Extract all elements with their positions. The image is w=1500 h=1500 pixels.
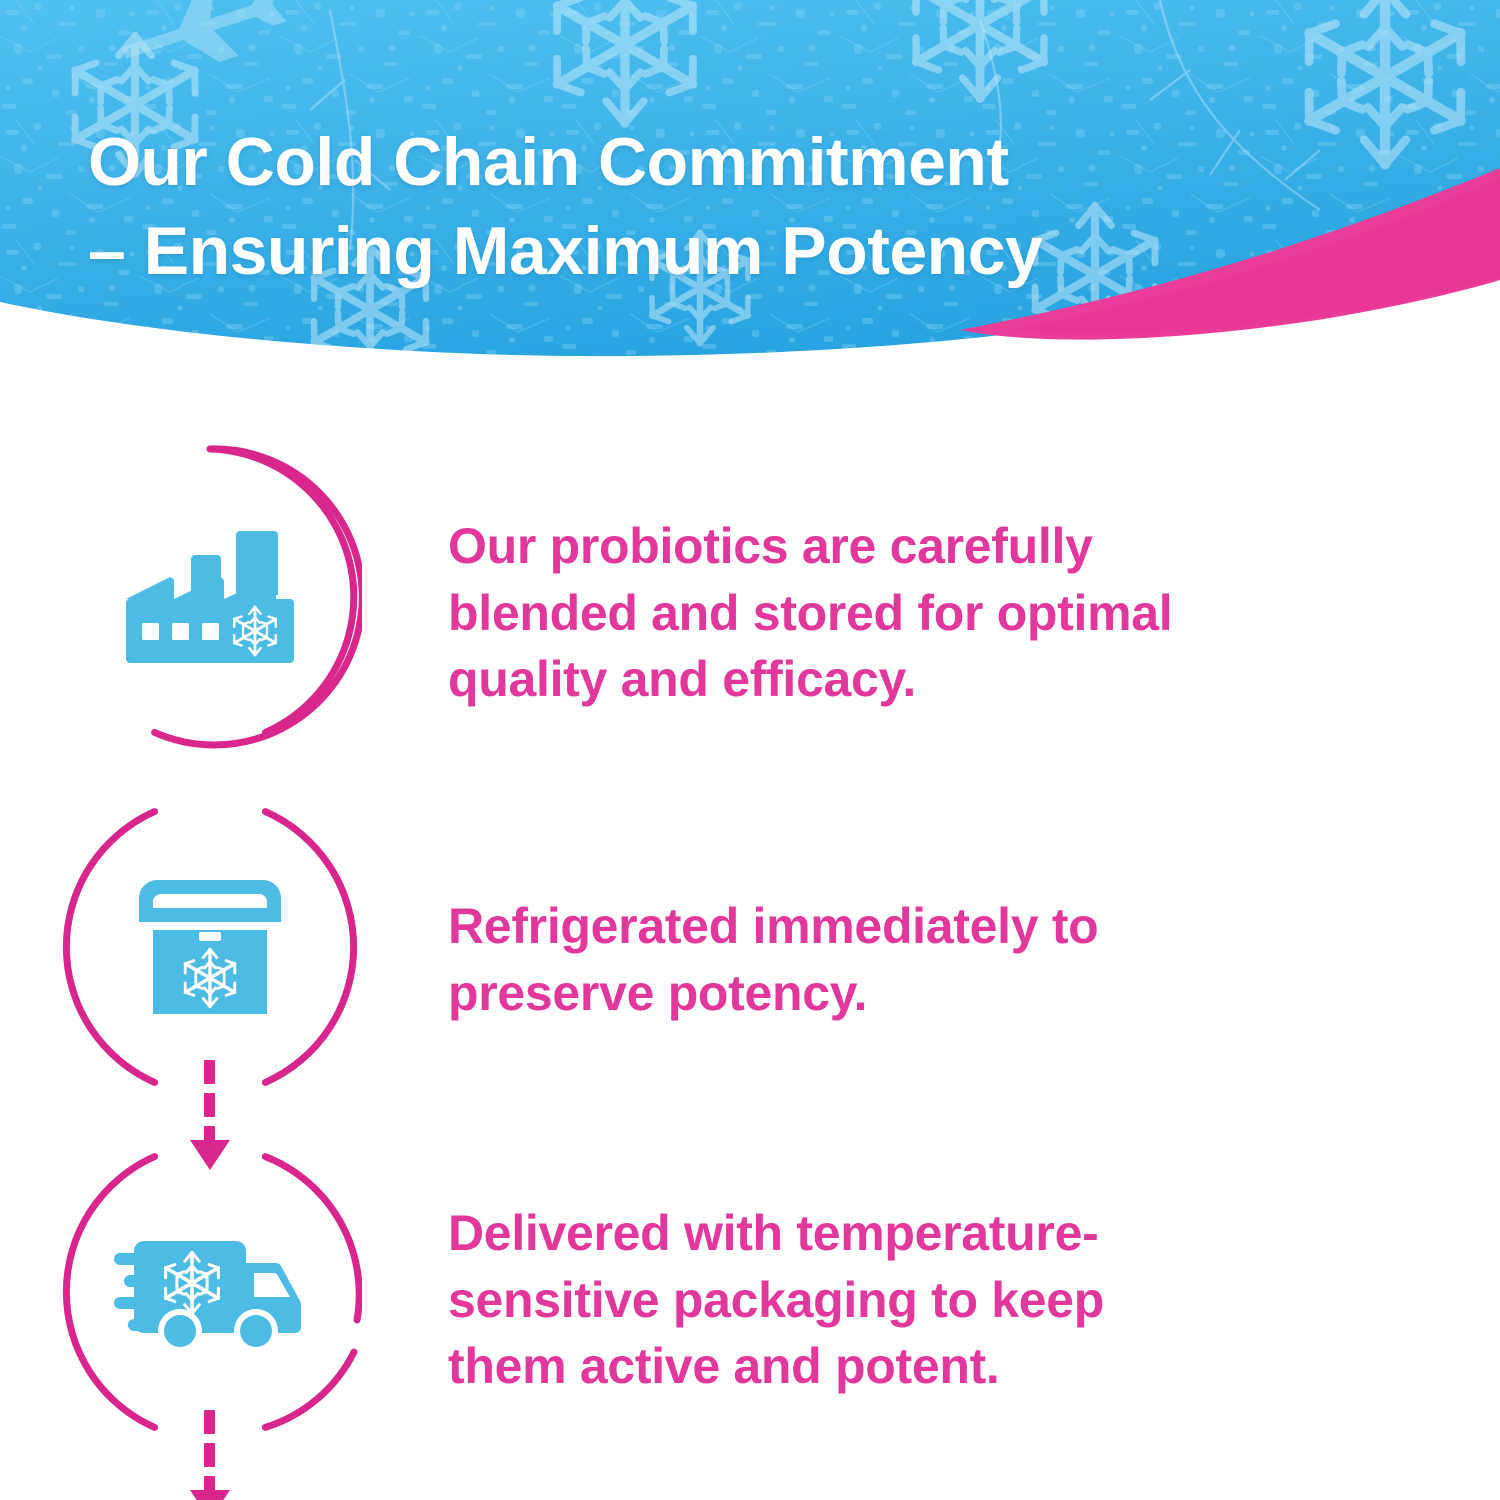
header-banner: Our Cold Chain Commitment – Ensuring Max…	[0, 0, 1500, 380]
step-delivery: Delivered with temperature- sensitive pa…	[0, 1140, 1500, 1440]
step-1-line-2: blended and stored for optimal	[448, 585, 1172, 641]
delivery-truck-snowflake-icon	[58, 1140, 362, 1444]
connector-arrow-2	[188, 1410, 232, 1500]
step-3-circle	[58, 1140, 362, 1444]
dashed-down-arrow-icon	[188, 1410, 232, 1500]
step-1-full-text: Our probiotics are carefully blended and…	[0, 445, 1, 446]
cooler-box-snowflake-icon	[58, 795, 362, 1099]
step-2-full-text: Refrigerated immediately to preserve pot…	[0, 795, 1, 796]
step-refrigeration: Refrigerated immediately to preserve pot…	[0, 795, 1500, 1095]
step-3-text: Delivered with temperature- sensitive pa…	[448, 1200, 1238, 1400]
page-title: Our Cold Chain Commitment – Ensuring Max…	[88, 118, 1208, 298]
step-3-line-3: them active and potent.	[448, 1338, 1000, 1394]
step-1-text: Our probiotics are carefully blended and…	[448, 513, 1238, 713]
cooler-box-icon-glyph	[135, 872, 285, 1022]
factory-snowflake-icon	[58, 445, 362, 749]
title-line-2: – Ensuring Maximum Potency	[88, 207, 1208, 297]
step-2-line-2: preserve potency.	[448, 965, 867, 1021]
step-1-circle	[58, 445, 362, 749]
step-2-text: Refrigerated immediately to preserve pot…	[448, 893, 1238, 1026]
step-manufacturing: Our probiotics are carefully blended and…	[0, 445, 1500, 745]
step-3-full-text: Delivered with temperature-sensitive pac…	[0, 1140, 1, 1141]
step-3-line-1: Delivered with temperature-	[448, 1205, 1098, 1261]
step-2-line-1: Refrigerated immediately to	[448, 898, 1098, 954]
cold-chain-infographic: Our Cold Chain Commitment – Ensuring Max…	[0, 0, 1500, 1500]
factory-icon-glyph	[122, 527, 298, 667]
step-1-line-1: Our probiotics are carefully	[448, 518, 1093, 574]
steps-section: Our probiotics are carefully blended and…	[0, 380, 1500, 1500]
step-3-line-2: sensitive packaging to keep	[448, 1272, 1104, 1328]
dashed-down-arrow-icon	[188, 1060, 232, 1170]
title-line-1: Our Cold Chain Commitment	[88, 118, 1208, 208]
truck-icon-glyph	[110, 1227, 310, 1357]
step-1-line-3: quality and efficacy.	[448, 651, 916, 707]
step-2-circle	[58, 795, 362, 1099]
connector-arrow-1	[188, 1060, 232, 1170]
